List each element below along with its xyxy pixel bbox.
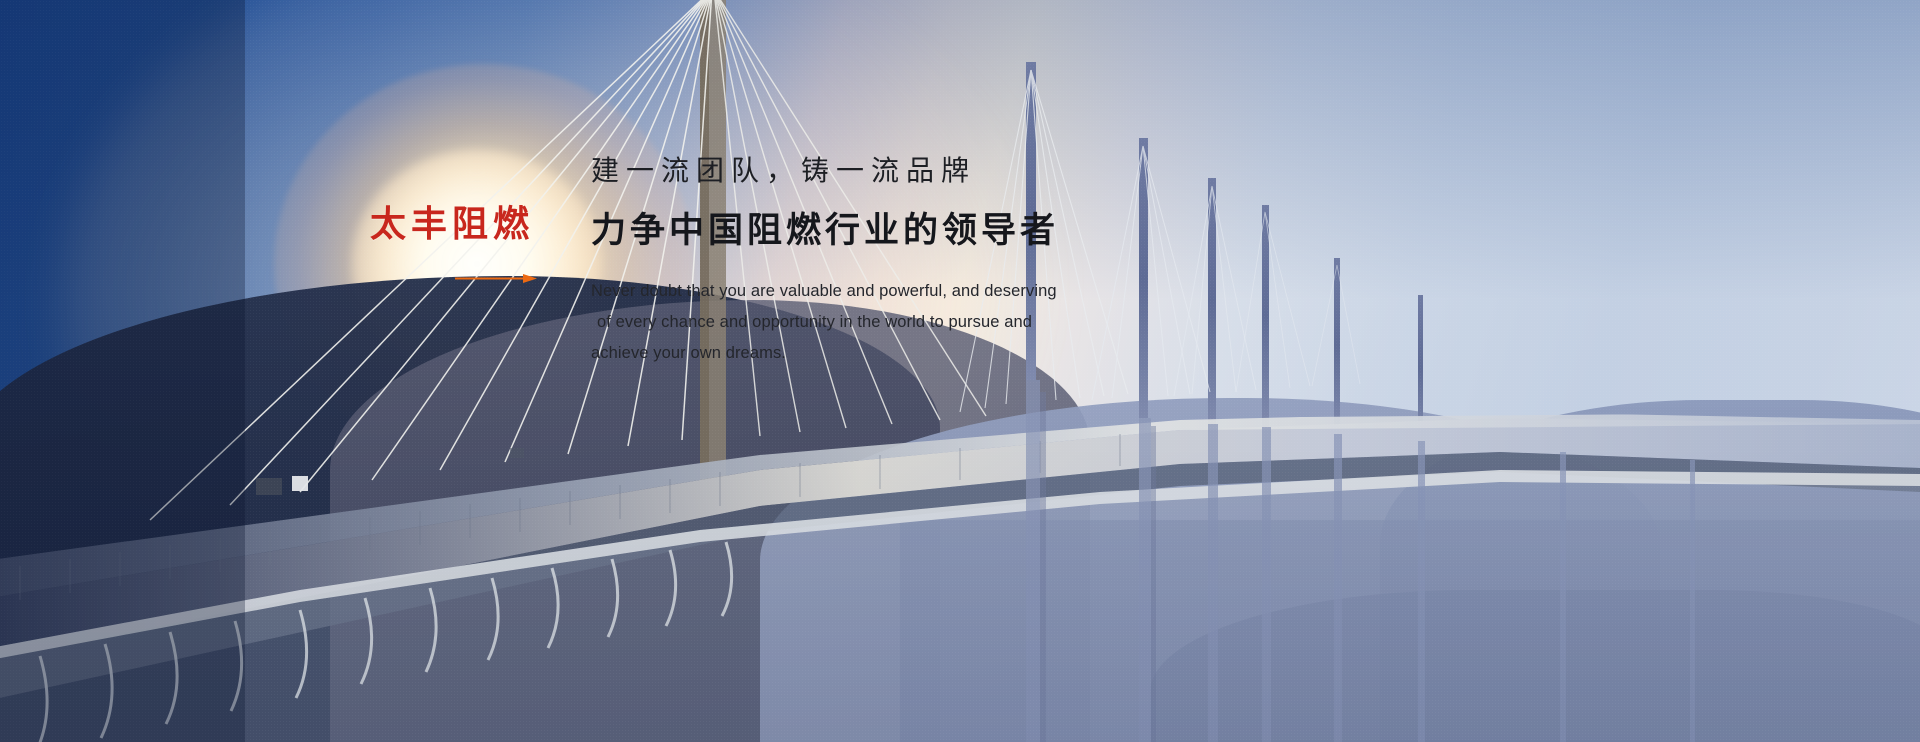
description-line-3: achieve your own dreams.: [591, 338, 1061, 369]
hero-banner: 太丰阻燃 建一流团队，铸一流品牌 力争中国阻燃行业的领导者 Never doub…: [0, 0, 1920, 742]
banner-headline: 力争中国阻燃行业的领导者: [591, 210, 1291, 254]
banner-copy: 建一流团队，铸一流品牌 力争中国阻燃行业的领导者 Never doubt tha…: [591, 153, 1291, 368]
brand-logo-text: 太丰阻燃: [370, 207, 550, 243]
banner-tagline: 建一流团队，铸一流品牌: [591, 153, 1291, 189]
description-line-1: Never doubt that you are valuable and po…: [591, 276, 1061, 307]
banner-content: 太丰阻燃 建一流团队，铸一流品牌 力争中国阻燃行业的领导者 Never doub…: [0, 0, 1920, 742]
description-line-2: of every chance and opportunity in the w…: [591, 307, 1061, 338]
brand-logo[interactable]: 太丰阻燃: [370, 207, 550, 283]
arrow-right-icon: [455, 273, 537, 283]
banner-description: Never doubt that you are valuable and po…: [591, 276, 1061, 368]
